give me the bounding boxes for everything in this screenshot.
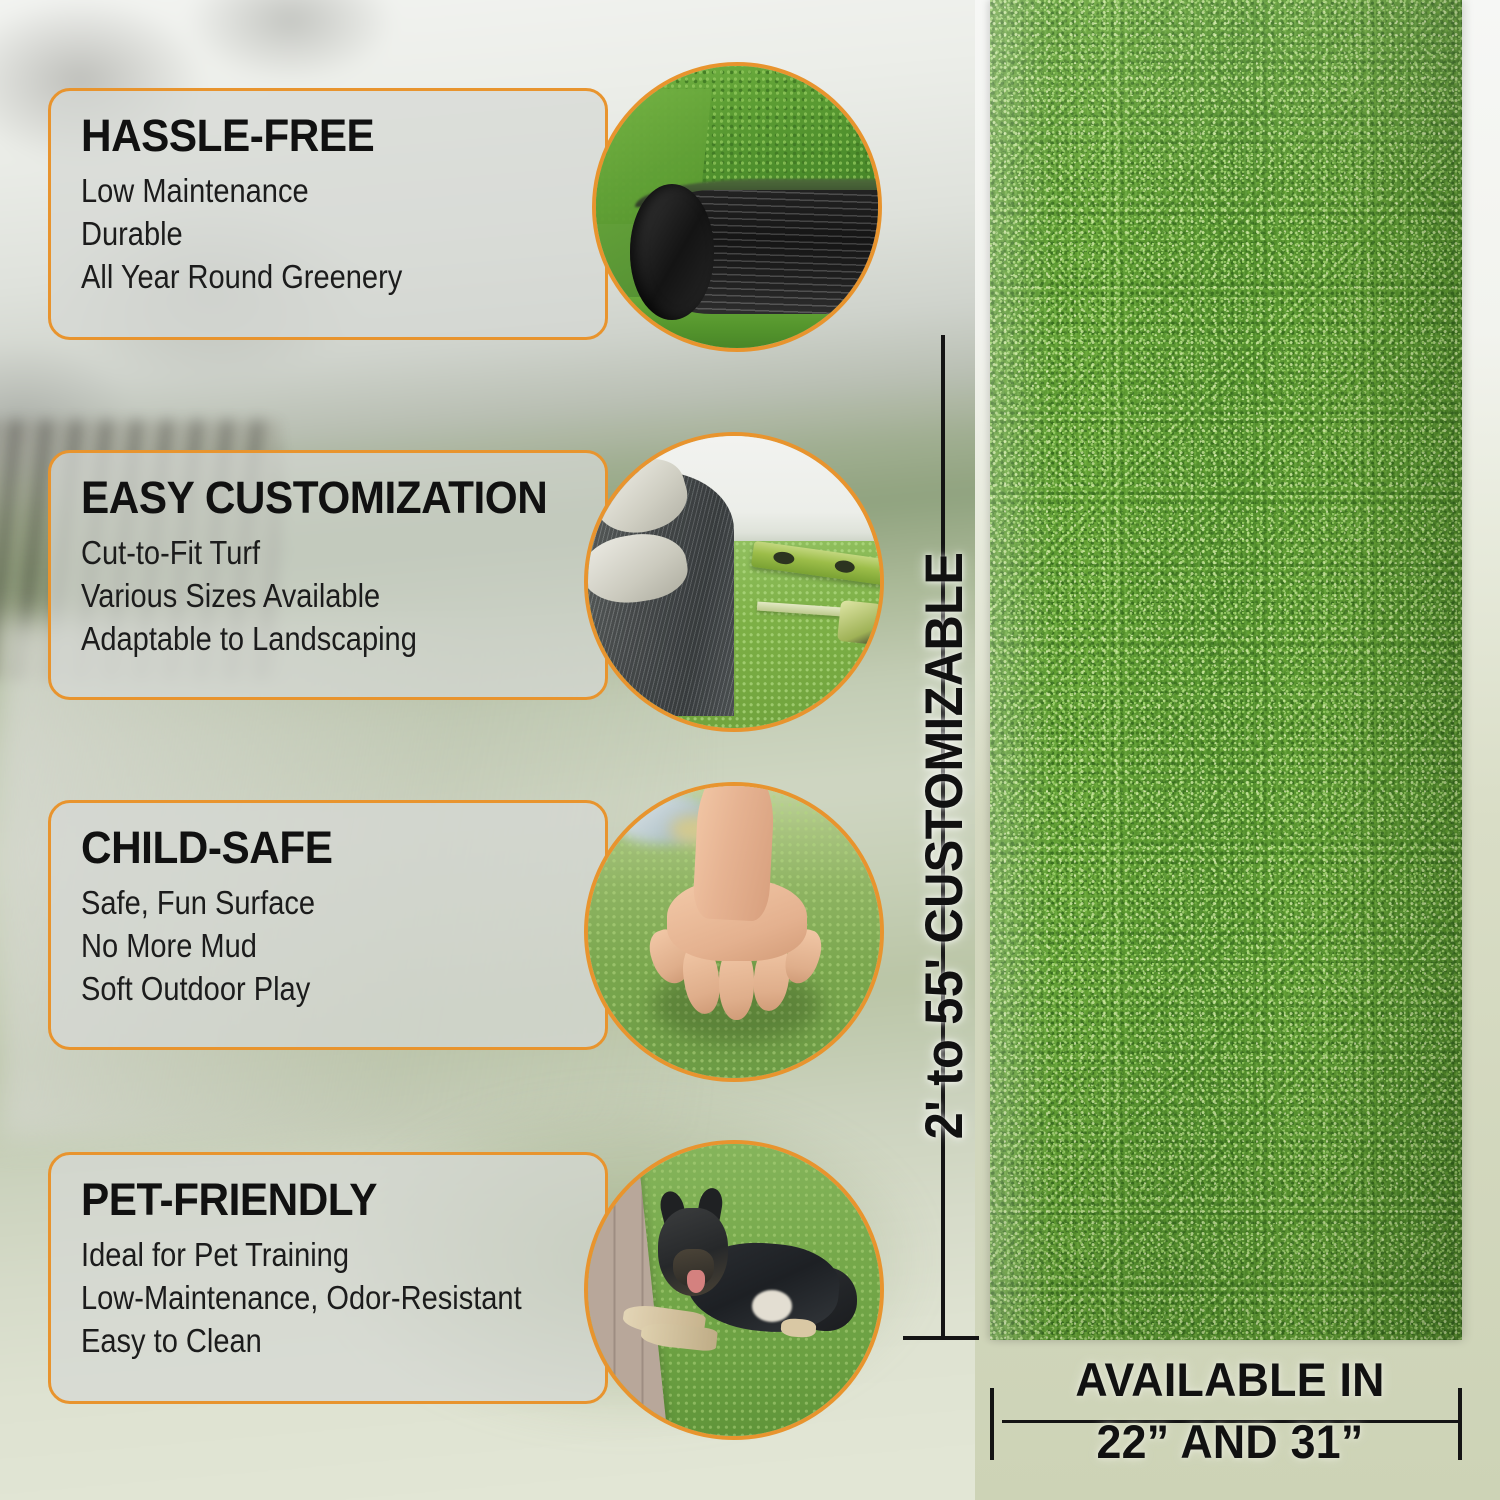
feature-line: Easy to Clean [81,1320,517,1363]
child-forearm [692,782,776,922]
feature-card-pet-friendly: PET-FRIENDLY Ideal for Pet Training Low-… [48,1152,608,1404]
turf-shading [990,0,1462,1340]
feature-photo-easy-customization [584,432,884,732]
feature-title: HASSLE-FREE [81,113,547,158]
length-measurement-text: 2' to 55' CUSTOMIZABLE [914,551,975,1139]
tape-measure-case [837,600,882,645]
level-vial [834,559,856,574]
photo-content [588,786,880,1078]
feature-line: Cut-to-Fit Turf [81,532,517,575]
length-measurement-end-cap [903,1336,979,1340]
feature-photo-pet-friendly [584,1140,884,1440]
level-vial [773,550,795,565]
feature-photo-child-safe [584,782,884,1082]
feature-line: Durable [81,213,517,256]
feature-line: Adaptable to Landscaping [81,618,517,661]
feature-line: Low-Maintenance, Odor-Resistant [81,1277,517,1320]
feature-title: PET-FRIENDLY [81,1177,547,1222]
turf-roll-strip [990,0,1462,1340]
feature-line: All Year Round Greenery [81,256,517,299]
dog-tongue [687,1270,705,1293]
feature-line: Soft Outdoor Play [81,968,517,1011]
feature-line: Various Sizes Available [81,575,517,618]
photo-content [588,1144,880,1436]
feature-line: Safe, Fun Surface [81,882,517,925]
feature-line: Ideal for Pet Training [81,1234,517,1277]
width-measurement-label: AVAILABLE IN 22” AND 31” [1002,1356,1458,1466]
photo-content [588,436,880,728]
width-measurement-tick-right [1458,1388,1462,1460]
turf-roll-edge [630,184,715,319]
feature-line: No More Mud [81,925,517,968]
dog-paw [780,1318,816,1338]
feature-card-child-safe: CHILD-SAFE Safe, Fun Surface No More Mud… [48,800,608,1050]
length-measurement-label: 2' to 55' CUSTOMIZABLE [898,380,990,1310]
width-measurement-text-line2: 22” AND 31” [1013,1418,1446,1466]
feature-card-easy-customization: EASY CUSTOMIZATION Cut-to-Fit Turf Vario… [48,450,608,700]
product-infographic-poster: HASSLE-FREE Low Maintenance Durable All … [0,0,1500,1500]
photo-content [596,66,878,348]
feature-photo-hassle-free [592,62,882,352]
dog-chest-marking [752,1290,793,1322]
feature-line: Low Maintenance [81,170,517,213]
feature-title: EASY CUSTOMIZATION [81,475,547,520]
width-measurement-tick-left [990,1388,994,1460]
feature-title: CHILD-SAFE [81,825,547,870]
feature-card-hassle-free: HASSLE-FREE Low Maintenance Durable All … [48,88,608,340]
width-measurement-text-line1: AVAILABLE IN [1013,1356,1446,1404]
